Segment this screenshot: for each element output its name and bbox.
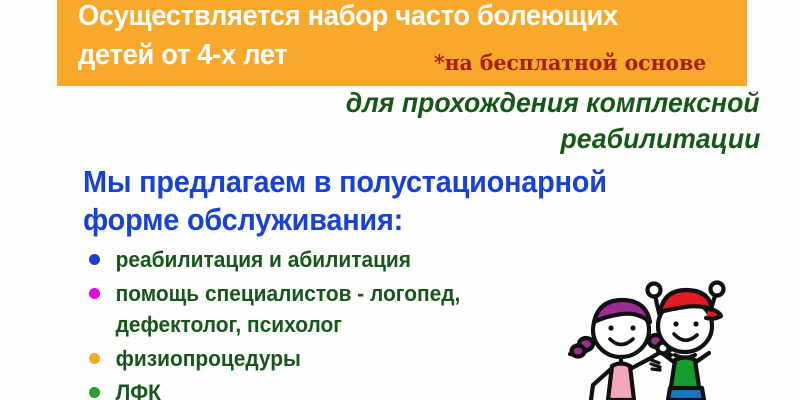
offer-heading-line-2: форме обслуживания: — [83, 204, 403, 235]
list-item-label-continuation: дефектолог, психолог — [89, 309, 536, 340]
subhead-line-2: реабилитации — [560, 125, 760, 153]
banner-headline-line-1: Осуществляется набор часто болеющих — [78, 2, 618, 31]
list-item-label: реабилитация и абилитация — [89, 244, 536, 275]
list-item: физиопроцедуры — [89, 343, 559, 374]
services-list: реабилитация и абилитация помощь специал… — [89, 244, 559, 400]
subhead-line-1: для прохождения комплексной — [346, 89, 760, 117]
two-children-illustration — [548, 268, 800, 400]
offer-heading-line-1: Мы предлагаем в полустационарной — [83, 166, 607, 197]
free-of-charge-note: *на бесплатной основе — [434, 52, 706, 73]
girl-figure — [570, 300, 671, 400]
poster-canvas: Осуществляется набор часто болеющих дете… — [0, 0, 800, 400]
list-item: реабилитация и абилитация — [89, 244, 559, 275]
orange-banner: Осуществляется набор часто болеющих дете… — [57, 0, 747, 86]
banner-headline-line-2: детей от 4-х лет — [78, 41, 287, 70]
list-item: помощь специалистов - логопед, дефектоло… — [89, 278, 559, 340]
list-item-label: помощь специалистов - логопед, — [89, 278, 536, 309]
list-item: ЛФК — [89, 377, 559, 400]
list-item-label: физиопроцедуры — [89, 343, 536, 374]
list-item-label: ЛФК — [89, 377, 536, 400]
